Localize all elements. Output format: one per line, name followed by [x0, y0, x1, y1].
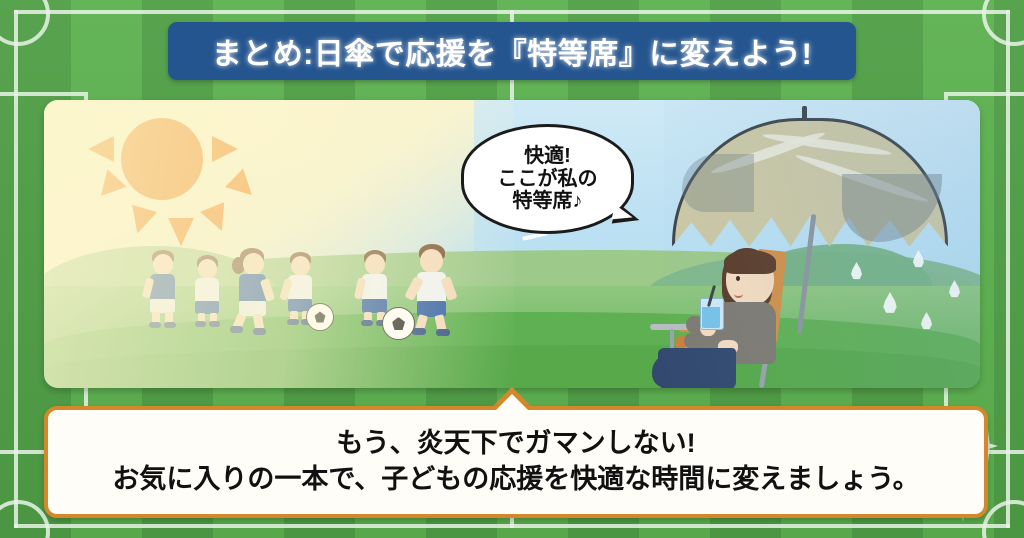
kid-shorts — [239, 301, 266, 316]
kid-shoe — [412, 328, 426, 335]
speech-bubble-line-3: 特等席♪ — [513, 190, 583, 212]
kid-shoe — [253, 328, 266, 335]
kid-shoe — [164, 322, 176, 328]
woman-knee — [652, 354, 688, 388]
speech-bubble: 快適! ここが私の 特等席♪ — [461, 124, 634, 234]
caption-line-2: お気に入りの一本で、子どもの応援を快適な時間に変えましょう。 — [112, 462, 919, 498]
kid-shirt — [362, 274, 387, 301]
kid-head — [365, 254, 385, 275]
kid-head — [198, 259, 217, 279]
kid-shorts — [362, 299, 387, 313]
kid-shirt — [195, 278, 219, 303]
kid-1 — [144, 250, 186, 328]
sun-disc — [121, 118, 203, 200]
kid-shirt — [288, 275, 312, 301]
kid-head — [420, 249, 443, 273]
kid-shoe — [361, 320, 373, 326]
kid-shoe — [230, 326, 243, 333]
title-banner: まとめ:日傘で応援を『特等席』に変えよう! — [168, 22, 856, 80]
kid-head — [291, 256, 310, 276]
speech-bubble-line-1: 快適! — [524, 145, 571, 167]
kid-shoe — [209, 321, 220, 327]
woman-fringe — [724, 250, 776, 274]
kid-2 — [190, 255, 228, 327]
soccer-ball-2 — [382, 307, 415, 340]
kid-shorts — [150, 299, 175, 313]
parasol-shadow-panel — [682, 154, 754, 212]
kid-shirt — [417, 272, 446, 303]
kid-head — [243, 253, 264, 275]
caption-line-1: もう、炎天下でガマンしない! — [336, 426, 695, 462]
title-text: まとめ:日傘で応援を『特等席』に変えよう! — [212, 29, 812, 73]
poster-canvas: まとめ:日傘で応援を『特等席』に変えよう! — [0, 0, 1024, 538]
kid-shoe — [287, 319, 299, 325]
parasol-tip — [802, 106, 807, 120]
parasol-shadow-panel — [842, 174, 942, 242]
woman-eye — [736, 276, 740, 281]
woman-mouth — [734, 290, 743, 298]
sun-ray — [168, 218, 194, 246]
sun-ray — [212, 136, 238, 162]
kid-shoe — [436, 329, 450, 336]
kid-6 — [408, 244, 460, 336]
kid-3 — [230, 248, 278, 336]
kid-shoe — [195, 321, 206, 327]
kid-shoe — [149, 322, 161, 328]
kid-head — [153, 254, 173, 275]
speech-bubble-line-2: ここが私の — [498, 168, 598, 190]
woman-with-parasol — [644, 240, 844, 388]
drink-liquid — [702, 307, 720, 328]
soccer-ball-1 — [306, 303, 334, 331]
sun-ray — [88, 136, 114, 162]
kid-shirt — [150, 274, 175, 301]
caption-box: もう、炎天下でガマンしない! お気に入りの一本で、子どもの応援を快適な時間に変え… — [44, 406, 988, 518]
drink-glass — [700, 298, 724, 330]
caption-notch-fill — [495, 394, 529, 411]
